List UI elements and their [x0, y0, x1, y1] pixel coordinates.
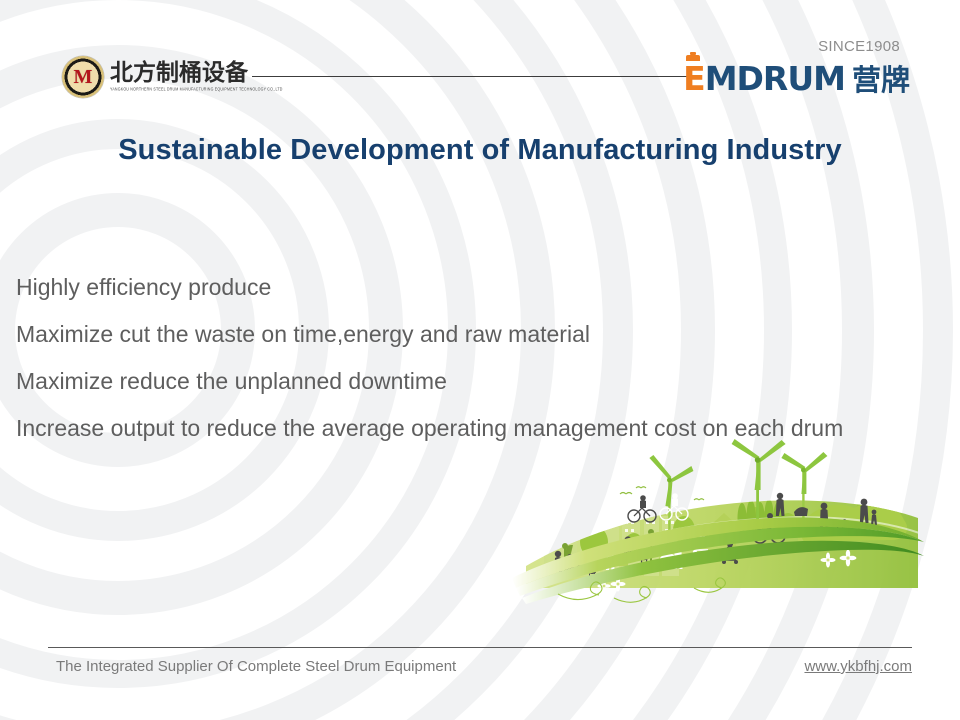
- footer-divider-line: [48, 647, 912, 648]
- brand-logo-emdrum: E MDRUM 营牌: [683, 62, 910, 95]
- slide: M 北方制桶设备 YANGKOU NORTHERN STEEL DRUM MAN…: [0, 0, 960, 720]
- green-eco-city-illustration: [498, 438, 928, 618]
- company-name-en-sub: YANGKOU NORTHERN STEEL DRUM MANUFACTURIN…: [110, 88, 283, 92]
- company-name-cn: 北方制桶设备: [110, 62, 283, 85]
- brand-name-cn: 营牌: [852, 66, 910, 95]
- drum-lid-accent-icon: [686, 55, 700, 61]
- company-logo-text: 北方制桶设备 YANGKOU NORTHERN STEEL DRUM MANUF…: [110, 62, 283, 92]
- body-line: Maximize reduce the unplanned downtime: [16, 370, 936, 393]
- body-line: Highly efficiency produce: [16, 276, 936, 299]
- header-divider-line: [252, 76, 688, 77]
- company-emblem-icon: M: [62, 56, 104, 98]
- body-line: Maximize cut the waste on time,energy an…: [16, 323, 936, 346]
- company-logo-left: M 北方制桶设备 YANGKOU NORTHERN STEEL DRUM MAN…: [62, 56, 283, 98]
- since-label: SINCE1908: [818, 38, 900, 55]
- brand-letter-e: E: [683, 62, 705, 95]
- body-text-block: Highly efficiency produce Maximize cut t…: [16, 276, 936, 464]
- page-title: Sustainable Development of Manufacturing…: [0, 134, 960, 167]
- footer-tagline: The Integrated Supplier Of Complete Stee…: [56, 658, 456, 675]
- brand-name-rest: MDRUM: [705, 62, 845, 95]
- body-line: Increase output to reduce the average op…: [16, 417, 936, 440]
- eco-birds: [620, 487, 704, 500]
- brand-letter-e-text: E: [683, 59, 705, 98]
- header: M 北方制桶设备 YANGKOU NORTHERN STEEL DRUM MAN…: [0, 0, 960, 110]
- footer-website-link[interactable]: www.ykbfhj.com: [804, 658, 912, 675]
- emblem-letter: M: [62, 56, 104, 98]
